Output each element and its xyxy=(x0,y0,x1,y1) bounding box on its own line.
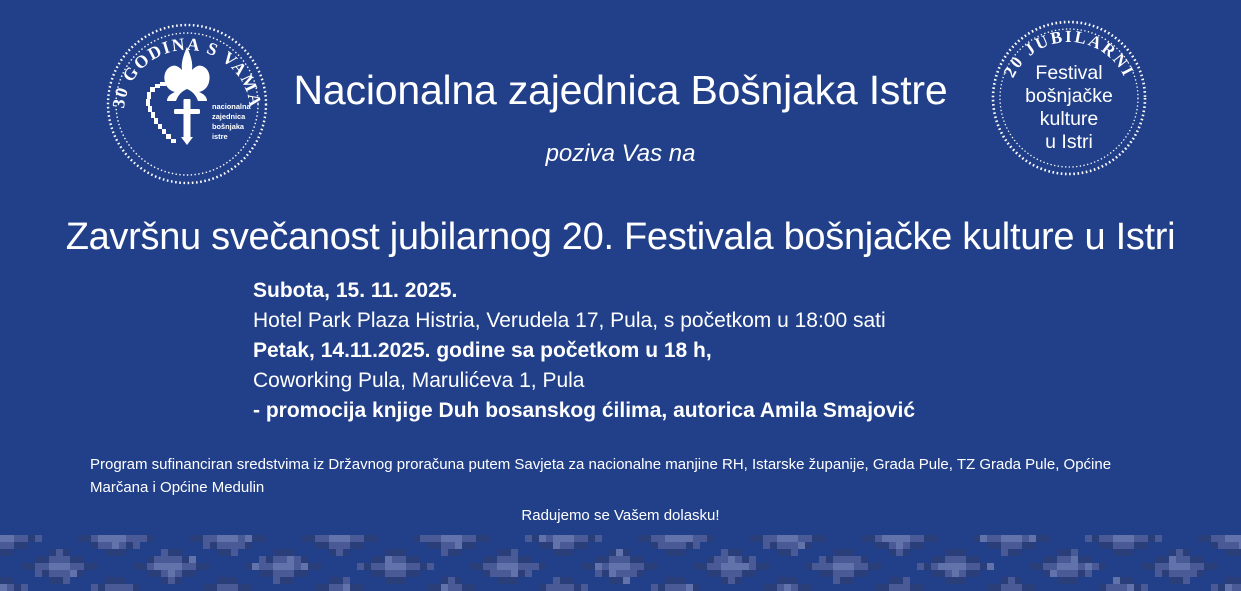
closing-line: Radujemo se Vašem dolasku! xyxy=(0,507,1241,524)
kilim-pattern-band xyxy=(0,535,1241,591)
funding-note: Program sufinanciran sredstvima iz Držav… xyxy=(90,453,1155,499)
svg-text:zajednica: zajednica xyxy=(212,112,246,121)
detail-line-date-2: Petak, 14.11.2025. godine sa početkom u … xyxy=(253,336,915,366)
detail-line-date-1: Subota, 15. 11. 2025. xyxy=(253,276,915,306)
organisation-title: Nacionalna zajednica Bošnjaka Istre xyxy=(0,68,1241,112)
event-invitation-poster: 30 GODINA S VAMA nacionalna xyxy=(0,0,1241,591)
detail-line-venue-2: Coworking Pula, Marulićeva 1, Pula xyxy=(253,366,915,396)
svg-text:bošnjaka: bošnjaka xyxy=(212,122,245,131)
detail-line-book-promotion: - promocija knjige Duh bosanskog ćilima,… xyxy=(253,396,915,426)
event-headline: Završnu svečanost jubilarnog 20. Festiva… xyxy=(0,216,1241,259)
event-details-block: Subota, 15. 11. 2025. Hotel Park Plaza H… xyxy=(253,276,915,426)
detail-line-venue-1: Hotel Park Plaza Histria, Verudela 17, P… xyxy=(253,306,915,336)
invitation-line: poziva Vas na xyxy=(0,140,1241,168)
